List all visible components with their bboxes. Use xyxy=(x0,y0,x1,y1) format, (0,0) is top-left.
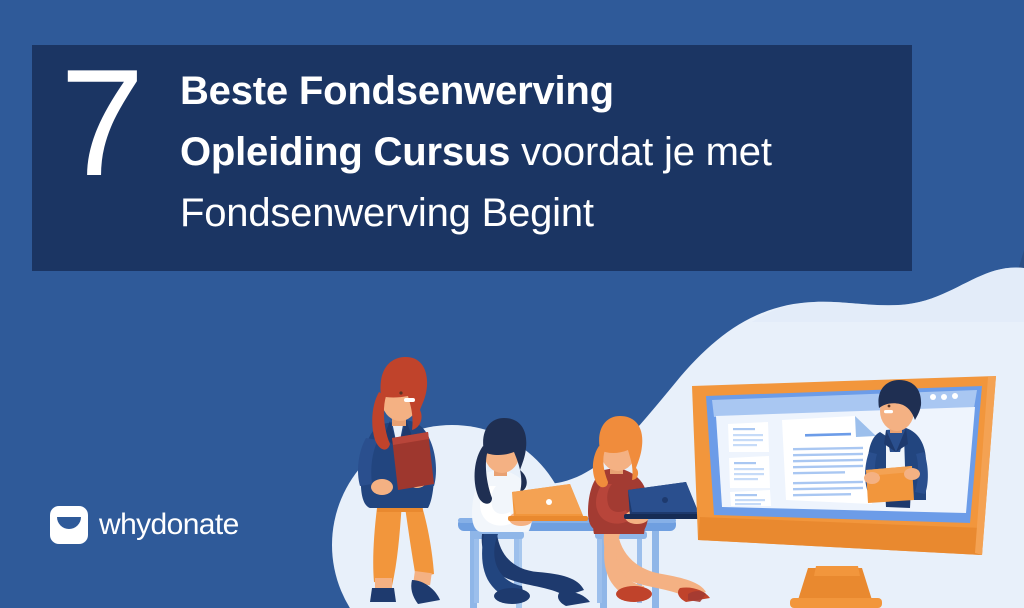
headline-text: Beste Fondsenwerving Opleiding Cursus vo… xyxy=(180,61,892,244)
brand-logo[interactable]: whydonate xyxy=(50,506,239,544)
headline-line-3: Fondsenwerving Begint xyxy=(180,183,892,244)
poster-canvas: 7 Beste Fondsenwerving Opleiding Cursus … xyxy=(0,0,1024,608)
window-dot xyxy=(941,394,947,400)
headline-line-1: Beste Fondsenwerving xyxy=(180,61,892,122)
window-dot xyxy=(930,394,936,400)
headline-seg: Opleiding Cursus xyxy=(180,130,521,174)
screen-sidebar-cards xyxy=(728,422,771,506)
whydonate-mark-icon xyxy=(50,506,88,544)
window-dot xyxy=(952,393,958,399)
headline-banner: 7 Beste Fondsenwerving Opleiding Cursus … xyxy=(32,45,912,271)
headline-number: 7 xyxy=(60,47,143,199)
headline-seg: Fondsenwerving Begint xyxy=(180,191,594,235)
headline-seg: Beste Fondsenwerving xyxy=(180,69,614,113)
headline-line-2: Opleiding Cursus voordat je met xyxy=(180,122,892,183)
headline-seg: voordat je met xyxy=(521,130,772,174)
brand-logo-text: whydonate xyxy=(99,508,239,542)
